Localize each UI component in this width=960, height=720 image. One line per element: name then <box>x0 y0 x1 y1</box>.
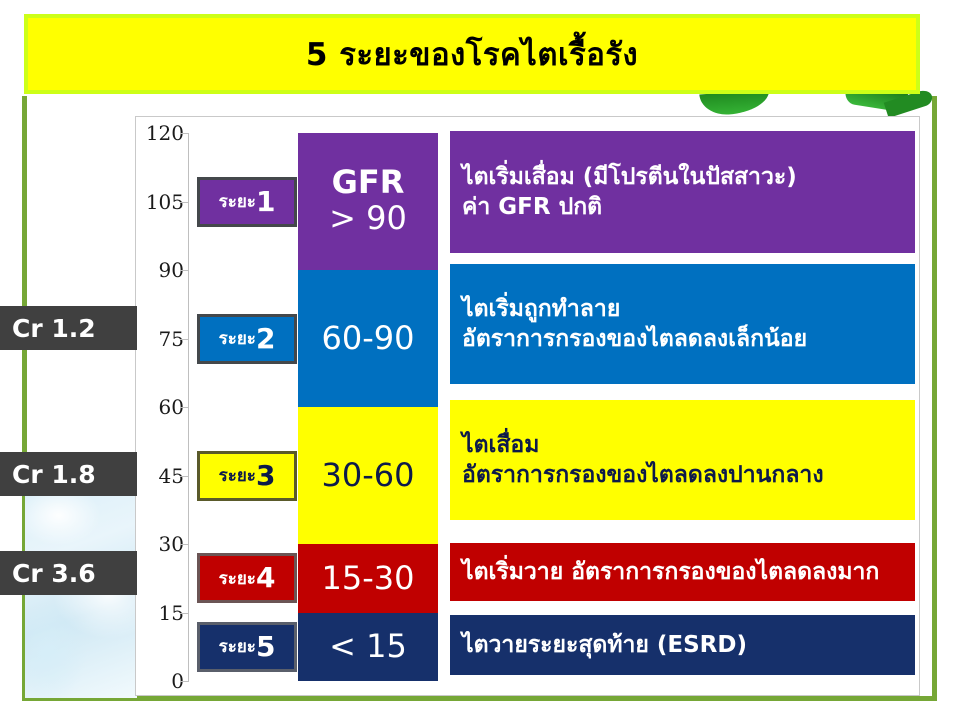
stage-description-line: อัตราการกรองของไตลดลงเล็กน้อย <box>462 324 903 354</box>
y-axis-tick-mark <box>180 133 189 134</box>
y-axis-tick-mark <box>180 270 189 271</box>
gfr-band-value: 30-60 <box>322 457 415 494</box>
y-axis-tick-mark <box>180 681 189 682</box>
stage-badge-number: 2 <box>256 325 275 353</box>
gfr-band-stage-4[interactable]: 15-30 <box>298 544 438 613</box>
stage-badge-5[interactable]: ระยะ5 <box>197 622 297 672</box>
y-axis-tick-mark <box>180 339 189 340</box>
stage-badge-1[interactable]: ระยะ1 <box>197 177 297 227</box>
gfr-band-title: GFR <box>332 166 405 200</box>
stage-badge-label: ระยะ <box>219 462 256 489</box>
creatinine-marker: Cr 1.8 <box>0 452 137 496</box>
stage-description-2[interactable]: ไตเริ่มถูกทำลายอัตราการกรองของไตลดลงเล็ก… <box>450 264 915 384</box>
y-axis-tick-label: 30 <box>140 532 184 556</box>
y-axis-tick-mark <box>180 407 189 408</box>
y-axis-tick-label: 15 <box>140 601 184 625</box>
y-axis-tick-label: 75 <box>140 327 184 351</box>
gfr-band-stage-3[interactable]: 30-60 <box>298 407 438 544</box>
gfr-band-stage-2[interactable]: 60-90 <box>298 270 438 407</box>
creatinine-marker: Cr 3.6 <box>0 551 137 595</box>
stage-description-line: อัตราการกรองของไตลดลงปานกลาง <box>462 460 903 490</box>
frame-border-right <box>932 96 937 701</box>
title-banner-inner: 5 ระยะของโรคไตเรื้อรัง <box>28 18 916 90</box>
stage-description-line: ไตเริ่มถูกทำลาย <box>462 294 903 324</box>
stage-badge-number: 5 <box>256 633 275 661</box>
stage-description-5[interactable]: ไตวายระยะสุดท้าย (ESRD) <box>450 615 915 675</box>
stage-badge-label: ระยะ <box>219 633 256 660</box>
frame-border-bottom <box>22 696 937 701</box>
stage-description-1[interactable]: ไตเริ่มเสื่อม (มีโปรตีนในปัสสาวะ)ค่า GFR… <box>450 131 915 253</box>
title-banner: 5 ระยะของโรคไตเรื้อรัง <box>24 14 920 94</box>
stage-badge-number: 4 <box>256 564 275 592</box>
slide-frame: 5 ระยะของโรคไตเรื้อรัง 12010590756045301… <box>0 0 960 720</box>
y-axis-tick-label: 60 <box>140 395 184 419</box>
stage-description-line: ไตเริ่มเสื่อม (มีโปรตีนในปัสสาวะ) <box>462 162 903 192</box>
gfr-band-value: 60-90 <box>322 320 415 357</box>
y-axis-tick-mark <box>180 613 189 614</box>
stage-description-line: ไตวายระยะสุดท้าย (ESRD) <box>462 630 903 660</box>
y-axis-tick-label: 120 <box>140 121 184 145</box>
y-axis-tick-label: 45 <box>140 464 184 488</box>
y-axis-tick-label: 0 <box>140 669 184 693</box>
y-axis-tick-label: 90 <box>140 258 184 282</box>
stage-description-4[interactable]: ไตเริ่มวาย อัตราการกรองของไตลดลงมาก <box>450 543 915 601</box>
y-axis-tick-label: 105 <box>140 190 184 214</box>
gfr-band-stage-5[interactable]: < 15 <box>298 613 438 682</box>
y-axis-tick-mark <box>180 544 189 545</box>
stage-description-3[interactable]: ไตเสื่อมอัตราการกรองของไตลดลงปานกลาง <box>450 400 915 520</box>
stage-badge-2[interactable]: ระยะ2 <box>197 314 297 364</box>
gfr-band-value: < 15 <box>329 628 407 665</box>
stage-badge-number: 3 <box>256 462 275 490</box>
stage-badge-3[interactable]: ระยะ3 <box>197 451 297 501</box>
y-axis-tick-mark <box>180 202 189 203</box>
gfr-band-value: 15-30 <box>322 560 415 597</box>
stage-badge-4[interactable]: ระยะ4 <box>197 553 297 603</box>
page-title: 5 ระยะของโรคไตเรื้อรัง <box>306 29 638 79</box>
stage-badge-label: ระยะ <box>219 325 256 352</box>
gfr-band-stage-1[interactable]: GFR> 90 <box>298 133 438 270</box>
stage-description-line: ค่า GFR ปกติ <box>462 192 903 222</box>
stage-description-line: ไตเสื่อม <box>462 430 903 460</box>
stage-badge-label: ระยะ <box>219 188 256 215</box>
creatinine-marker: Cr 1.2 <box>0 306 137 350</box>
stage-badge-number: 1 <box>256 188 275 216</box>
stage-badge-label: ระยะ <box>219 565 256 592</box>
stage-description-line: ไตเริ่มวาย อัตราการกรองของไตลดลงมาก <box>462 557 903 587</box>
gfr-band-value: > 90 <box>329 200 407 237</box>
y-axis-tick-mark <box>180 476 189 477</box>
